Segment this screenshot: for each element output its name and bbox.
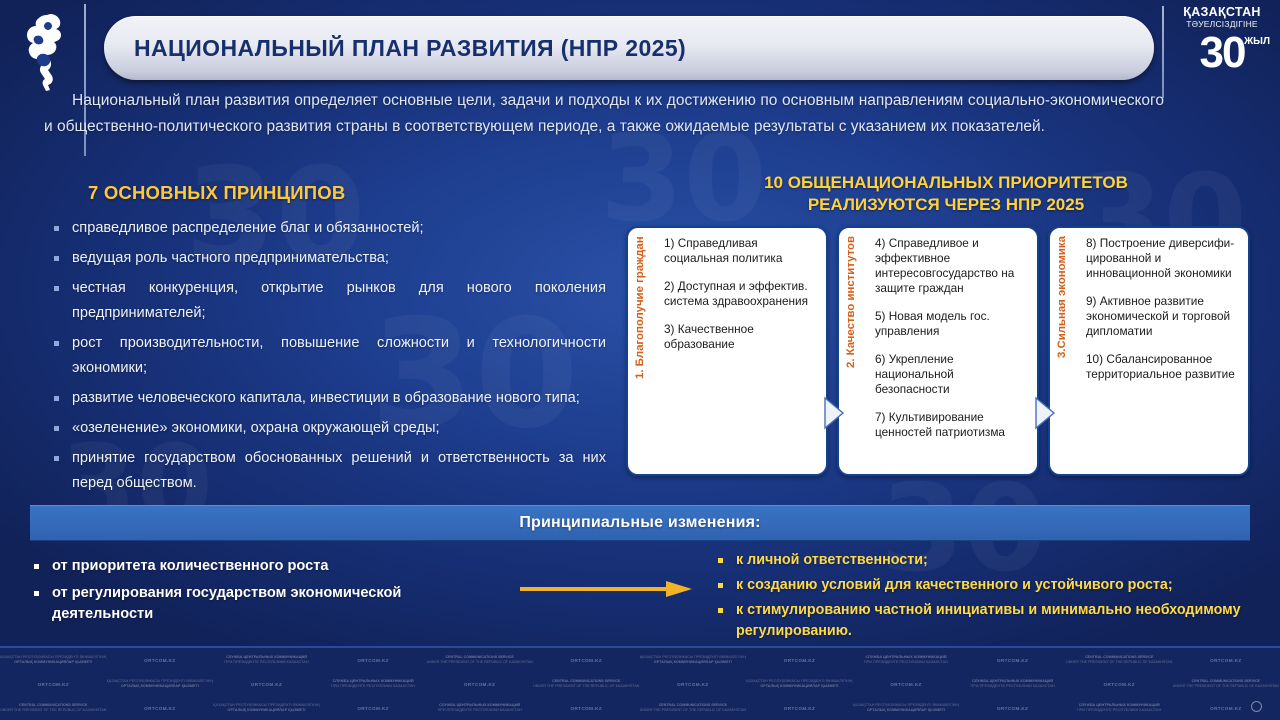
- priority-card-1[interactable]: 1. Благополучие граждан 1) Справедливая …: [626, 226, 828, 476]
- priority-card-3[interactable]: 3.Сильная экономика 8) Построение диверс…: [1048, 226, 1250, 476]
- watermark-cell: ҚАЗАҚСТАН РЕСПУБЛИКАСЫ ПРЕЗИДЕНТІ ӘКІМШІ…: [213, 696, 320, 720]
- chevron-right-icon: [1033, 396, 1057, 430]
- list-item: справедливое распределение благ и обязан…: [46, 216, 606, 241]
- list-item: 8) Построение диверсифи-цированной и инн…: [1086, 236, 1240, 281]
- watermark-cell: СЛУЖБА ЦЕНТРАЛЬНЫХ КОММУНИКАЦИЙПРИ ПРЕЗИ…: [426, 696, 533, 720]
- priorities-title: 10 ОБЩЕНАЦИОНАЛЬНЫХ ПРИОРИТЕТОВ РЕАЛИЗУЮ…: [640, 172, 1252, 216]
- watermark-cell: CENTRAL COMMUNICATIONS SERVICEUNDER THE …: [0, 696, 107, 720]
- watermark-cell: ҚАЗАҚСТАН РЕСПУБЛИКАСЫ ПРЕЗИДЕНТІ ӘКІМШІ…: [746, 672, 853, 696]
- watermark-cell: ORTCOM.KZ: [640, 672, 747, 696]
- watermark-cell: ORTCOM.KZ: [533, 696, 640, 720]
- watermark-cell: СЛУЖБА ЦЕНТРАЛЬНЫХ КОММУНИКАЦИЙПРИ ПРЕЗИ…: [853, 648, 960, 672]
- card-vertical-label: 1. Благополучие граждан: [634, 236, 660, 466]
- watermark-cell: ORTCOM.KZ: [426, 672, 533, 696]
- snow-leopard-emblem-icon: [10, 6, 78, 92]
- changes-banner-title: Принципиальные изменения:: [519, 514, 760, 532]
- watermark-cell: CENTRAL COMMUNICATIONS SERVICEUNDER THE …: [426, 648, 533, 672]
- changes-from-list: от приоритета количественного роста от р…: [24, 556, 494, 631]
- list-item: 9) Активное развитие экономической и тор…: [1086, 294, 1240, 339]
- watermark-cell: ORTCOM.KZ: [1173, 648, 1280, 672]
- list-item: 10) Сбалансированное территориальное раз…: [1086, 352, 1240, 382]
- list-item: 4) Справедливое и эффективное интересовг…: [875, 236, 1029, 296]
- list-item: к стимулированию частной инициативы и ми…: [712, 600, 1264, 642]
- footer-watermark-strip: ҚАЗАҚСТАН РЕСПУБЛИКАСЫ ПРЕЗИДЕНТІ ӘКІМШІ…: [0, 646, 1280, 720]
- watermark-cell: ORTCOM.KZ: [0, 672, 107, 696]
- list-item: 6) Укрепление национальной безопасности: [875, 352, 1029, 397]
- watermark-cell: ҚАЗАҚСТАН РЕСПУБЛИКАСЫ ПРЕЗИДЕНТІ ӘКІМШІ…: [0, 648, 107, 672]
- watermark-cell: СЛУЖБА ЦЕНТРАЛЬНЫХ КОММУНИКАЦИЙПРИ ПРЕЗИ…: [320, 672, 427, 696]
- transition-arrow-icon: [520, 578, 692, 600]
- intro-paragraph: Национальный план развития определяет ос…: [44, 88, 1164, 140]
- changes-to-list: к личной ответственности; к созданию усл…: [712, 550, 1264, 646]
- watermark-cell: ORTCOM.KZ: [1066, 672, 1173, 696]
- watermark-grid: ҚАЗАҚСТАН РЕСПУБЛИКАСЫ ПРЕЗИДЕНТІ ӘКІМШІ…: [0, 648, 1280, 720]
- watermark-cell: ҚАЗАҚСТАН РЕСПУБЛИКАСЫ ПРЕЗИДЕНТІ ӘКІМШІ…: [640, 648, 747, 672]
- intro-text: Национальный план развития определяет ос…: [44, 92, 1164, 135]
- watermark-cell: CENTRAL COMMUNICATIONS SERVICEUNDER THE …: [640, 696, 747, 720]
- list-item: к созданию условий для качественного и у…: [712, 575, 1264, 596]
- principles-list: справедливое распределение благ и обязан…: [46, 216, 606, 501]
- watermark-cell: ORTCOM.KZ: [959, 696, 1066, 720]
- priorities-title-line-1: 10 ОБЩЕНАЦИОНАЛЬНЫХ ПРИОРИТЕТОВ: [640, 172, 1252, 194]
- corner-dot-icon: [1251, 701, 1262, 712]
- watermark-cell: CENTRAL COMMUNICATIONS SERVICEUNDER THE …: [533, 672, 640, 696]
- list-item: честная конкуренция, открытие рынков для…: [46, 276, 606, 326]
- list-item: от приоритета количественного роста: [24, 556, 494, 577]
- list-item: к личной ответственности;: [712, 550, 1264, 571]
- watermark-cell: СЛУЖБА ЦЕНТРАЛЬНЫХ КОММУНИКАЦИЙПРИ ПРЕЗИ…: [213, 648, 320, 672]
- page-title: НАЦИОНАЛЬНЫЙ ПЛАН РАЗВИТИЯ (НПР 2025): [134, 35, 686, 62]
- watermark-cell: CENTRAL COMMUNICATIONS SERVICEUNDER THE …: [1066, 648, 1173, 672]
- watermark-cell: ORTCOM.KZ: [746, 696, 853, 720]
- watermark-cell: CENTRAL COMMUNICATIONS SERVICEUNDER THE …: [1173, 672, 1280, 696]
- priorities-title-line-2: РЕАЛИЗУЮТСЯ ЧЕРЕЗ НПР 2025: [640, 194, 1252, 216]
- list-item: развитие человеческого капитала, инвести…: [46, 386, 606, 411]
- list-item: принятие государством обоснованных решен…: [46, 446, 606, 496]
- card-vertical-label: 3.Сильная экономика: [1056, 236, 1082, 466]
- priority-card-2[interactable]: 2. Качество институтов 4) Справедливое и…: [837, 226, 1039, 476]
- kazakhstan-30-years-logo: ҚАЗАҚСТАН ТӘУЕЛСІЗДІГІНЕ 30 ЖЫЛ: [1170, 6, 1274, 98]
- card-vertical-label: 2. Качество институтов: [845, 236, 871, 466]
- watermark-cell: ORTCOM.KZ: [213, 672, 320, 696]
- card-items: 4) Справедливое и эффективное интересовг…: [871, 228, 1037, 474]
- list-item: 2) Доступная и эффектив. система здравоо…: [664, 279, 818, 309]
- slide-canvas: 30 30 30 30 30 30 НАЦИОНАЛЬНЫЙ ПЛАН РАЗВ…: [0, 0, 1280, 720]
- watermark-cell: ORTCOM.KZ: [959, 648, 1066, 672]
- list-item: от регулирования государством экономичес…: [24, 583, 494, 625]
- logo-line-1: ҚАЗАҚСТАН: [1170, 6, 1274, 19]
- watermark-cell: ORTCOM.KZ: [533, 648, 640, 672]
- watermark-cell: ҚАЗАҚСТАН РЕСПУБЛИКАСЫ ПРЕЗИДЕНТІ ӘКІМШІ…: [107, 672, 214, 696]
- logo-years-label: ЖЫЛ: [1244, 36, 1270, 47]
- priority-cards-group: 1. Благополучие граждан 1) Справедливая …: [626, 226, 1258, 476]
- list-item: 5) Новая модель гос. управления: [875, 309, 1029, 339]
- list-item: «озеленение» экономики, охрана окружающе…: [46, 416, 606, 441]
- chevron-right-icon: [822, 396, 846, 430]
- changes-banner: Принципиальные изменения:: [30, 505, 1250, 541]
- watermark-cell: ORTCOM.KZ: [320, 696, 427, 720]
- list-item: 1) Справедливая социальная политика: [664, 236, 818, 266]
- watermark-cell: ҚАЗАҚСТАН РЕСПУБЛИКАСЫ ПРЕЗИДЕНТІ ӘКІМШІ…: [853, 696, 960, 720]
- watermark-cell: ORTCOM.KZ: [853, 672, 960, 696]
- watermark-cell: СЛУЖБА ЦЕНТРАЛЬНЫХ КОММУНИКАЦИЙПРИ ПРЕЗИ…: [1066, 696, 1173, 720]
- list-item: 3) Качественное образование: [664, 322, 818, 352]
- watermark-cell: ORTCOM.KZ: [107, 696, 214, 720]
- principles-title: 7 ОСНОВНЫХ ПРИНЦИПОВ: [88, 182, 508, 204]
- list-item: ведущая роль частного предпринимательств…: [46, 246, 606, 271]
- watermark-cell: ORTCOM.KZ: [746, 648, 853, 672]
- watermark-cell: СЛУЖБА ЦЕНТРАЛЬНЫХ КОММУНИКАЦИЙПРИ ПРЕЗИ…: [959, 672, 1066, 696]
- card-items: 8) Построение диверсифи-цированной и инн…: [1082, 228, 1248, 474]
- slide-title-pill: НАЦИОНАЛЬНЫЙ ПЛАН РАЗВИТИЯ (НПР 2025): [104, 16, 1154, 80]
- watermark-cell: ORTCOM.KZ: [1173, 696, 1280, 720]
- watermark-cell: ORTCOM.KZ: [107, 648, 214, 672]
- watermark-cell: ORTCOM.KZ: [320, 648, 427, 672]
- list-item: 7) Культивирование ценностей патриотизма: [875, 410, 1029, 440]
- list-item: рост производительности, повышение сложн…: [46, 331, 606, 381]
- card-items: 1) Справедливая социальная политика 2) Д…: [660, 228, 826, 474]
- logo-divider: [1162, 6, 1164, 98]
